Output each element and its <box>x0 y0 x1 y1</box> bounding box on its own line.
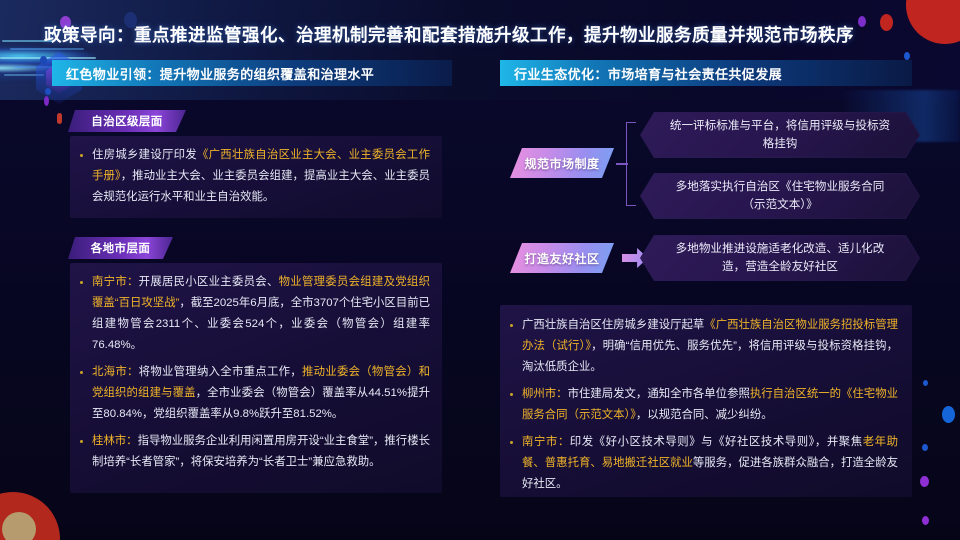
bullet-text: ，以规范合同、减少纠纷。 <box>636 409 773 421</box>
dot-decoration <box>880 14 893 31</box>
bullet-item: 北海市：将物业管理纳入全市重点工作，推动业委会（物管会）和党组织的组建与覆盖，全… <box>78 362 430 425</box>
dot-decoration <box>922 444 928 451</box>
dot-decoration <box>858 16 866 27</box>
dot-decoration <box>904 52 910 60</box>
bullet-text: 指导物业服务企业利用闲置用房开设“业主食堂”，推行楼长制培养“长者管家”，将保安… <box>92 435 430 468</box>
bullet-item: 柳州市：市住建局发文，通知全市各单位参照执行自治区统一的《住宅物业服务合同（示范… <box>508 384 898 426</box>
panel-cities: 南宁市：开展居民小区业主委员会、物业管理委员会组建及党组织覆盖“百日攻坚战”，截… <box>70 263 442 493</box>
bullet-list-cities: 南宁市：开展居民小区业主委员会、物业管理委员会组建及党组织覆盖“百日攻坚战”，截… <box>78 272 430 473</box>
streak-bar-icon <box>10 48 84 50</box>
bullet-item: 住房城乡建设厅印发《广西壮族自治区业主大会、业主委员会工作手册》，推动业主大会、… <box>78 145 430 208</box>
dot-decoration <box>920 476 929 487</box>
block-label-cities: 各地市层面 <box>68 237 173 259</box>
bullet-text: 开展居民小区业主委员会、 <box>139 276 279 288</box>
dot-decoration <box>942 406 955 423</box>
bullet-text: 将物业管理纳入全市重点工作， <box>139 366 302 378</box>
bullet-item: 南宁市：印发《好小区技术导则》与《好社区技术导则》，并聚焦老年助餐、普惠托育、易… <box>508 432 898 495</box>
dot-decoration <box>923 380 928 386</box>
pill-friendly-community: 打造友好社区 <box>510 243 614 273</box>
dot-decoration <box>40 56 47 64</box>
dot-decoration <box>45 88 51 95</box>
marker-dot-icon <box>57 113 62 124</box>
bullet-highlight-text: 南宁市： <box>92 276 139 288</box>
page-title: 政策导向：重点推进监管强化、治理机制完善和配套措施升级工作，提升物业服务质量并规… <box>44 22 854 47</box>
panel-right-bullets: 广西壮族自治区住房城乡建设厅起草《广西壮族自治区物业服务招投标管理办法（试行）》… <box>500 305 912 497</box>
flow-box-service-contract: 多地落实执行自治区《住宅物业服务合同（示范文本）》 <box>640 173 920 219</box>
bullet-text: 住房城乡建设厅印发 <box>92 149 197 161</box>
section-header-left: 红色物业引领：提升物业服务的组织覆盖和治理水平 <box>52 60 452 86</box>
bullet-highlight-text: 北海市： <box>92 366 139 378</box>
flow-box-text: 统一评标标准与平台，将信用评级与投标资格挂钩 <box>666 117 894 153</box>
section-header-right: 行业生态优化：市场培育与社会责任共促发展 <box>500 60 912 86</box>
streak-bar-icon <box>0 57 96 59</box>
bullet-list-autonomous-region: 住房城乡建设厅印发《广西壮族自治区业主大会、业主委员会工作手册》，推动业主大会、… <box>78 145 430 208</box>
flow-box-unified-bidding: 统一评标标准与平台，将信用评级与投标资格挂钩 <box>640 112 920 158</box>
block-label-autonomous-region: 自治区级层面 <box>68 110 186 132</box>
flow-box-text: 多地落实执行自治区《住宅物业服务合同（示范文本）》 <box>666 178 894 214</box>
bullet-text: 印发《好小区技术导则》与《好社区技术导则》，并聚焦 <box>570 436 863 448</box>
bullet-item: 南宁市：开展居民小区业主委员会、物业管理委员会组建及党组织覆盖“百日攻坚战”，截… <box>78 272 430 356</box>
bullet-item: 桂林市：指导物业服务企业利用闲置用房开设“业主食堂”，推行楼长制培养“长者管家”… <box>78 431 430 473</box>
pill-regulate-market: 规范市场制度 <box>510 148 614 178</box>
bracket-stem-connector <box>616 163 628 165</box>
bullet-highlight-text: 桂林市： <box>92 435 138 447</box>
bullet-highlight-text: 柳州市： <box>522 388 568 400</box>
bullet-text: 市住建局发文，通知全市各单位参照 <box>568 388 750 400</box>
bullet-text: 广西壮族自治区住房城乡建设厅起草 <box>522 319 704 331</box>
dot-decoration <box>44 96 49 106</box>
dot-decoration <box>922 516 929 525</box>
bullet-item: 广西壮族自治区住房城乡建设厅起草《广西壮族自治区物业服务招投标管理办法（试行）》… <box>508 315 898 378</box>
tan-circle-decoration <box>2 512 36 540</box>
panel-autonomous-region: 住房城乡建设厅印发《广西壮族自治区业主大会、业主委员会工作手册》，推动业主大会、… <box>70 136 442 218</box>
flow-box-aging-friendly: 多地物业推进设施适老化改造、适儿化改造，营造全龄友好社区 <box>640 235 920 281</box>
bullet-text: ，推动业主大会、业主委员会组建，提高业主大会、业主委员会规范化运行水平和业主自治… <box>92 170 430 203</box>
bullet-highlight-text: 南宁市： <box>522 436 570 448</box>
bullet-list-right: 广西壮族自治区住房城乡建设厅起草《广西壮族自治区物业服务招投标管理办法（试行）》… <box>508 315 898 495</box>
flow-box-text: 多地物业推进设施适老化改造、适儿化改造，营造全龄友好社区 <box>666 240 894 276</box>
